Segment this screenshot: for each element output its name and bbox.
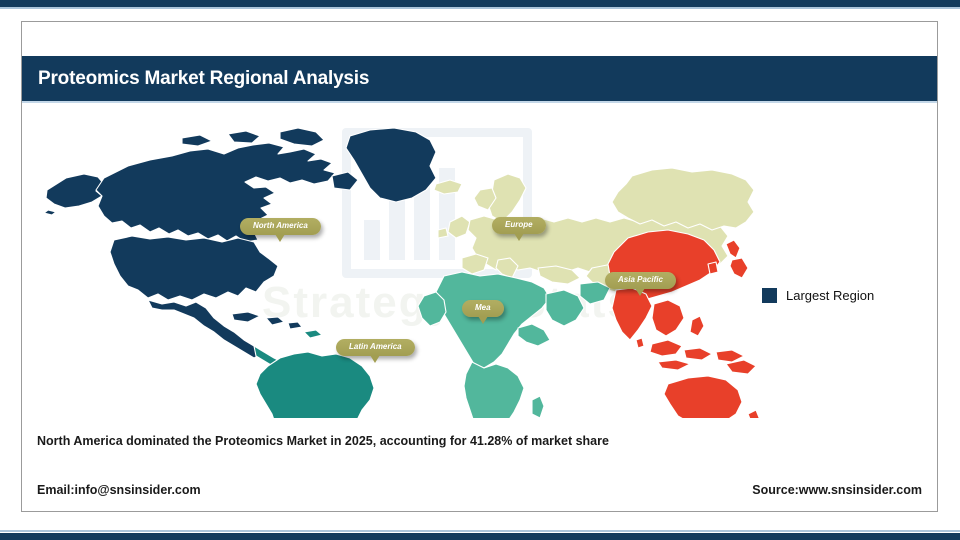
map-label-north-america[interactable]: North America [240,218,321,235]
world-map-container: Strategy & Stats [22,108,937,428]
legend: Largest Region [762,288,874,303]
world-map[interactable] [32,118,762,418]
legend-label: Largest Region [786,288,874,303]
map-label-europe[interactable]: Europe [492,217,546,234]
top-accent-bar [0,0,960,7]
top-accent-line [0,7,960,9]
map-label-mea[interactable]: Mea [462,300,504,317]
bottom-accent-bar [0,533,960,540]
page-title: Proteomics Market Regional Analysis [22,68,369,90]
title-bar: Proteomics Market Regional Analysis [22,56,937,101]
map-region-asia-pacific [608,230,762,418]
map-label-latin-america[interactable]: Latin America [336,339,415,356]
bottom-accent-line [0,530,960,532]
map-region-north-america [44,128,436,358]
caption-text: North America dominated the Proteomics M… [37,434,609,448]
footer-email[interactable]: Email:info@snsinsider.com [37,483,201,497]
footer-row: Email:info@snsinsider.com Source:www.sns… [37,483,922,497]
map-label-asia-pacific[interactable]: Asia Pacific [605,272,676,289]
title-bar-underline [22,101,937,103]
map-region-mea [418,272,610,418]
slide-card: Proteomics Market Regional Analysis Stra… [21,21,938,512]
legend-swatch-icon [762,288,777,303]
footer-source[interactable]: Source:www.snsinsider.com [752,483,922,497]
